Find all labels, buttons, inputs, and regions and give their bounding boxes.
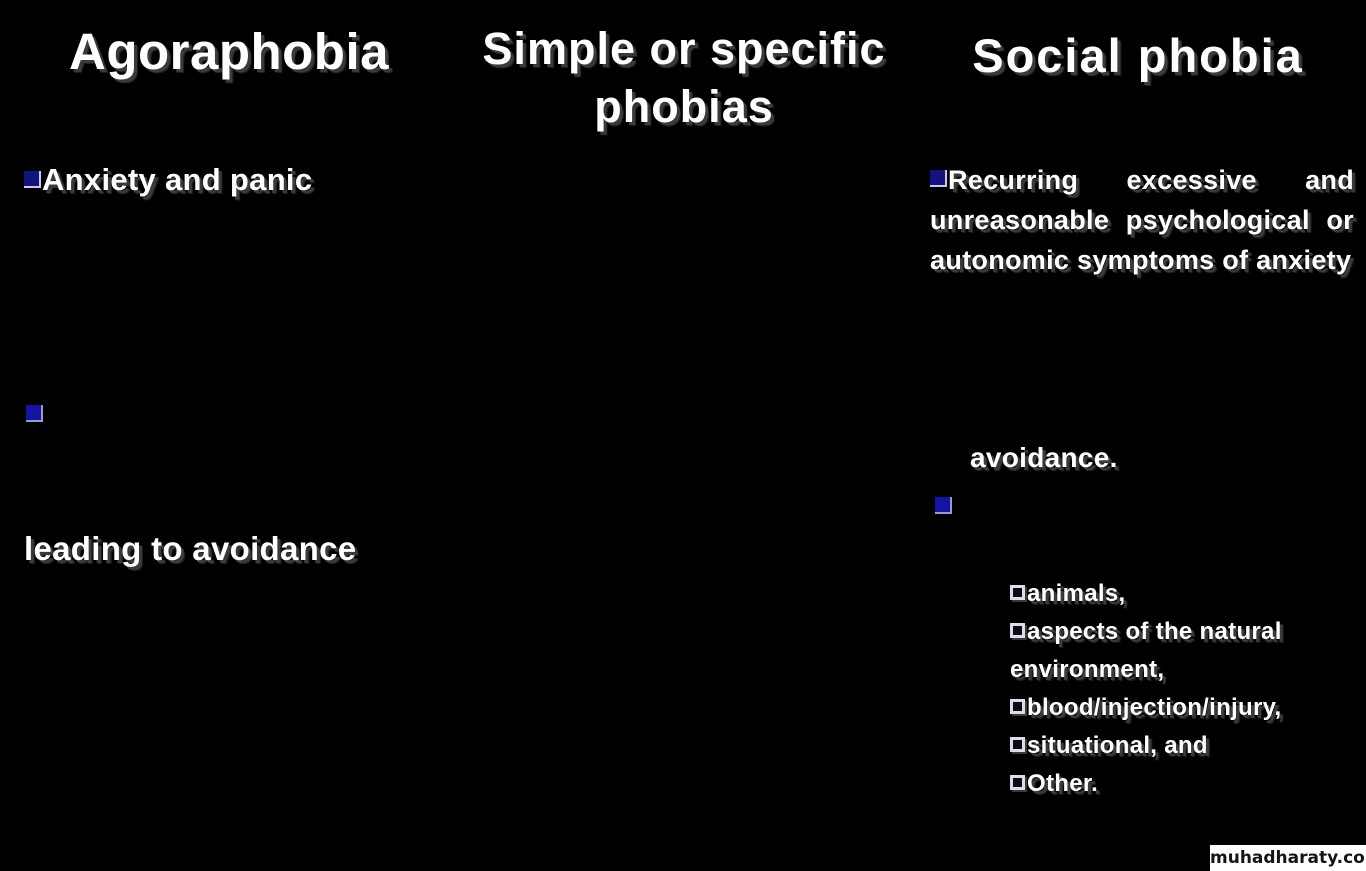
page-title-social-phobia: Social phobia: [910, 26, 1366, 86]
bullet-square-icon: [24, 171, 41, 188]
page-title-simple-or-specific-phobias: Simple or specific phobias: [458, 20, 910, 136]
bullet-square-icon-empty: [26, 405, 43, 422]
bullet-item-label: Anxiety and panic: [42, 162, 312, 197]
bullet-item-anxiety-and-panic: Anxiety and panic: [24, 160, 454, 200]
page-title-agoraphobia: Agoraphobia: [0, 22, 458, 82]
text-leading-to-avoidance: leading to avoidance: [24, 528, 454, 570]
column-agoraphobia: Agoraphobia Anxiety and panic leading to…: [0, 0, 458, 871]
watermark-muhadharaty: muhadharaty.com: [1210, 845, 1366, 871]
column-social-phobia: Social phobia Symptoms of incapacitating…: [910, 0, 1366, 871]
slide-canvas: Agoraphobia Anxiety and panic leading to…: [0, 0, 1366, 871]
column-simple-or-specific-phobias: Simple or specific phobias Recurring exc…: [458, 0, 910, 871]
